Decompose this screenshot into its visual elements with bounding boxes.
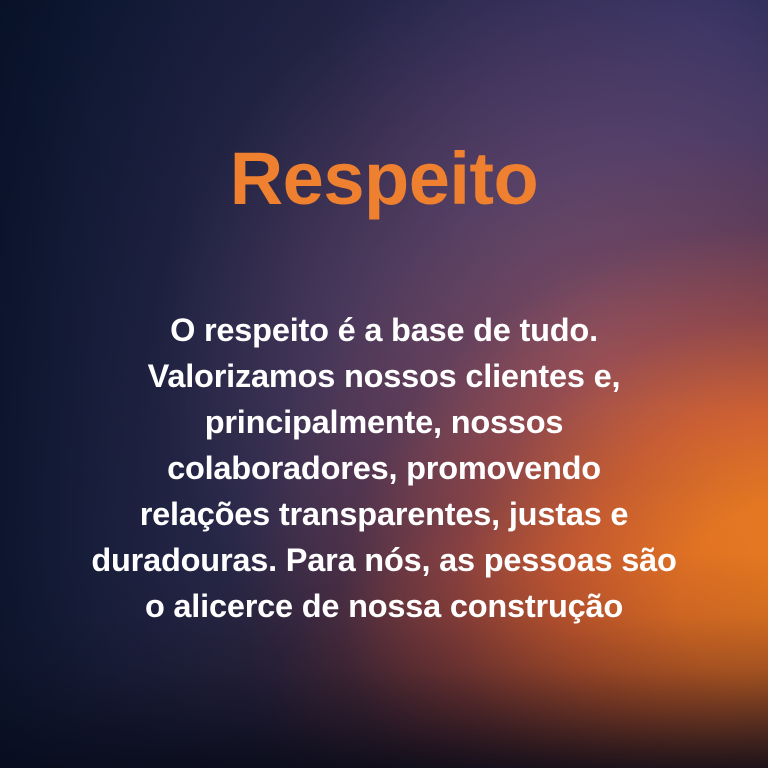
card-content: Respeito O respeito é a base de tudo. Va… bbox=[0, 0, 768, 768]
body-paragraph: O respeito é a base de tudo. Valorizamos… bbox=[54, 307, 714, 629]
body-line: relações transparentes, justas e bbox=[54, 491, 714, 537]
body-line: o alicerce de nossa construção bbox=[54, 583, 714, 629]
body-line: O respeito é a base de tudo. bbox=[54, 307, 714, 353]
body-line: Valorizamos nossos clientes e, bbox=[54, 353, 714, 399]
body-line: duradouras. Para nós, as pessoas são bbox=[54, 537, 714, 583]
body-line: colaboradores, promovendo bbox=[54, 445, 714, 491]
page-title: Respeito bbox=[0, 140, 768, 218]
value-card: Respeito O respeito é a base de tudo. Va… bbox=[0, 0, 768, 768]
body-line: principalmente, nossos bbox=[54, 399, 714, 445]
